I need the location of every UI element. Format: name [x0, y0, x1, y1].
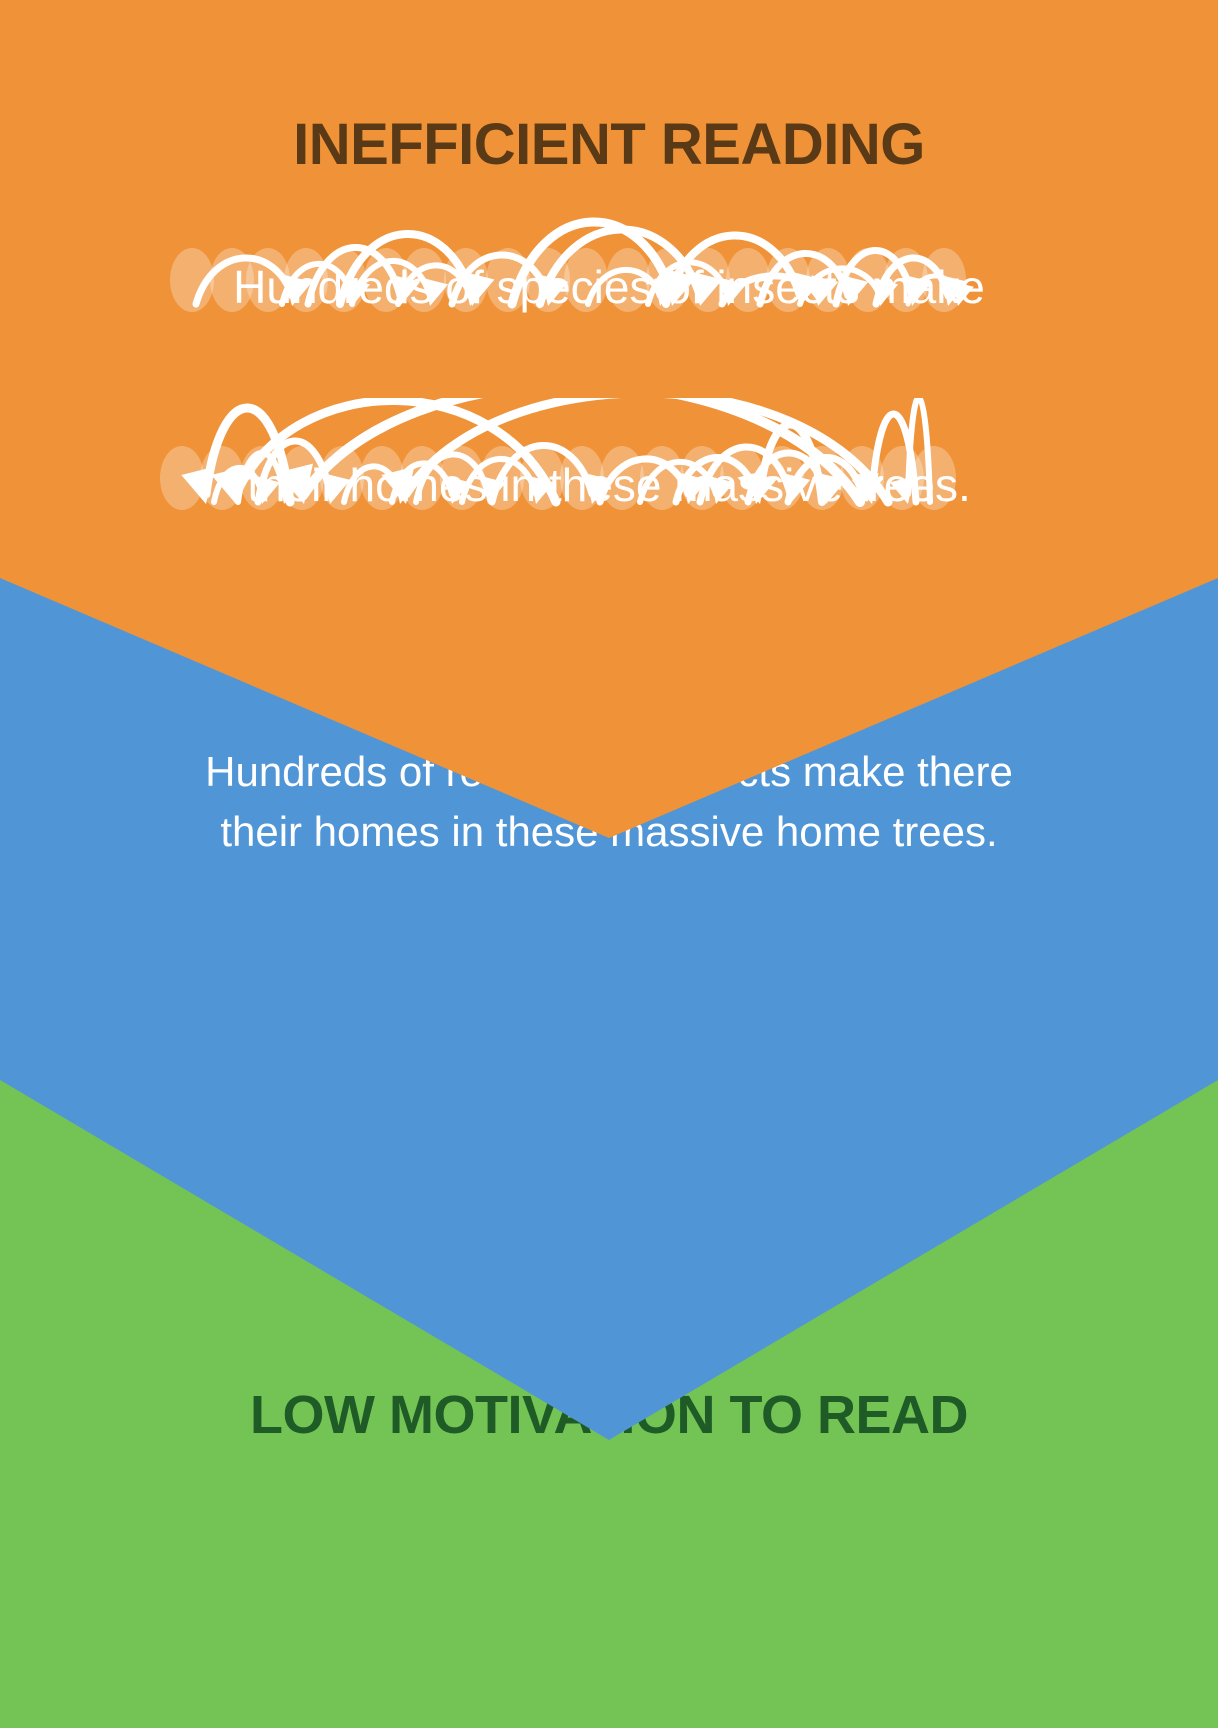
- eye-movement-trace-diagram: Hundreds of species of insects make thei…: [0, 200, 1218, 530]
- reading-sample-line: their homes in these massive trees.: [0, 398, 1218, 508]
- sample-text-line-2: their homes in these massive trees.: [0, 462, 1218, 508]
- infographic-poster: LOW MOTIVATION TO READ LOW COMPREHENSION…: [0, 0, 1218, 1728]
- section-heading-inefficient-reading: INEFFICIENT READING: [0, 0, 1218, 174]
- section-inefficient-reading: INEFFICIENT READING Hundreds of species …: [0, 0, 1218, 838]
- sample-text-line-1: Hundreds of species of insects make: [0, 264, 1218, 310]
- reading-sample-line: Hundreds of species of insects make: [0, 200, 1218, 310]
